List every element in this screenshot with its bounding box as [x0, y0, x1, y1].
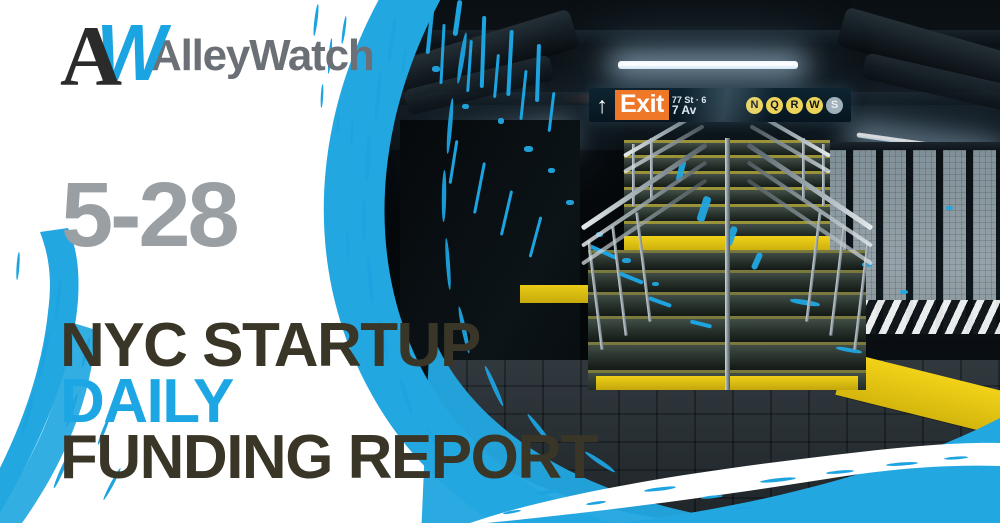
logo-wordmark: AlleyWatch: [150, 30, 374, 82]
poster-headline: NYC STARTUP DAILY FUNDING REPORT: [60, 318, 597, 486]
headline-line-1: NYC STARTUP: [60, 318, 597, 374]
poster-canvas: ↑ Exit 77 St · 6 7 Av N Q R W S: [0, 0, 1000, 523]
logo-letter-a: A: [60, 23, 120, 89]
alleywatch-logo[interactable]: W A AlleyWatch: [60, 18, 374, 94]
issue-date: 5-28: [61, 169, 237, 261]
text-layer: W A AlleyWatch 5-28 NYC STARTUP DAILY FU…: [0, 0, 1000, 523]
logo-mark-icon: W A: [60, 21, 146, 91]
headline-line-2: DAILY: [60, 374, 597, 430]
headline-line-3: FUNDING REPORT: [60, 430, 597, 486]
